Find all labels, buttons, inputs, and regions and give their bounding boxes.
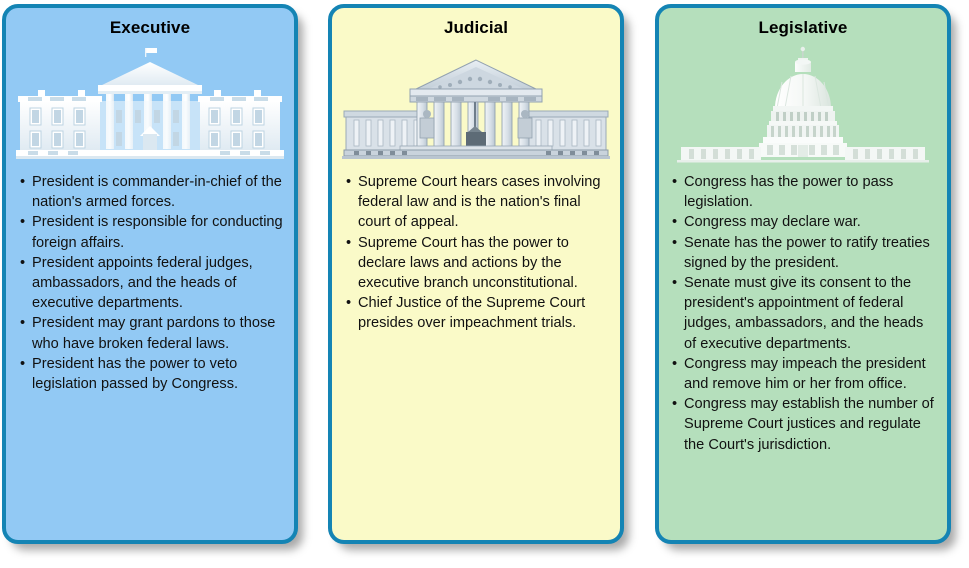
panel-legislative: Legislative	[655, 4, 951, 544]
list-item: President appoints federal judges, ambas…	[19, 253, 284, 314]
bullet-list-judicial: Supreme Court hears cases involving fede…	[345, 172, 610, 334]
panel-title-executive: Executive	[6, 18, 294, 38]
list-item: Congress may establish the number of Sup…	[671, 394, 939, 455]
bullet-list-executive: President is commander-in-chief of the n…	[19, 172, 284, 394]
list-item: President may grant pardons to those who…	[19, 313, 284, 353]
list-item: Chief Justice of the Supreme Court presi…	[345, 293, 610, 333]
panel-judicial: Judicial	[328, 4, 624, 544]
white-house-illustration	[6, 44, 294, 164]
list-item: Supreme Court hears cases involving fede…	[345, 172, 610, 233]
list-item: President is commander-in-chief of the n…	[19, 172, 284, 212]
us-capitol-illustration	[659, 44, 947, 164]
list-item: Senate has the power to ratify treaties …	[671, 233, 939, 273]
branches-of-government-infographic: Executive	[0, 0, 969, 568]
panel-title-legislative: Legislative	[659, 18, 947, 38]
list-item: Senate must give its consent to the pres…	[671, 273, 939, 354]
list-item: President has the power to veto legislat…	[19, 354, 284, 394]
list-item: Congress may declare war.	[671, 212, 939, 232]
panel-executive: Executive	[2, 4, 298, 544]
bullet-list-legislative: Congress has the power to pass legislati…	[671, 172, 939, 455]
supreme-court-illustration	[332, 44, 620, 164]
list-item: Congress has the power to pass legislati…	[671, 172, 939, 212]
list-item: President is responsible for conducting …	[19, 212, 284, 252]
list-item: Congress may impeach the president and r…	[671, 354, 939, 394]
list-item: Supreme Court has the power to declare l…	[345, 233, 610, 294]
panel-title-judicial: Judicial	[332, 18, 620, 38]
